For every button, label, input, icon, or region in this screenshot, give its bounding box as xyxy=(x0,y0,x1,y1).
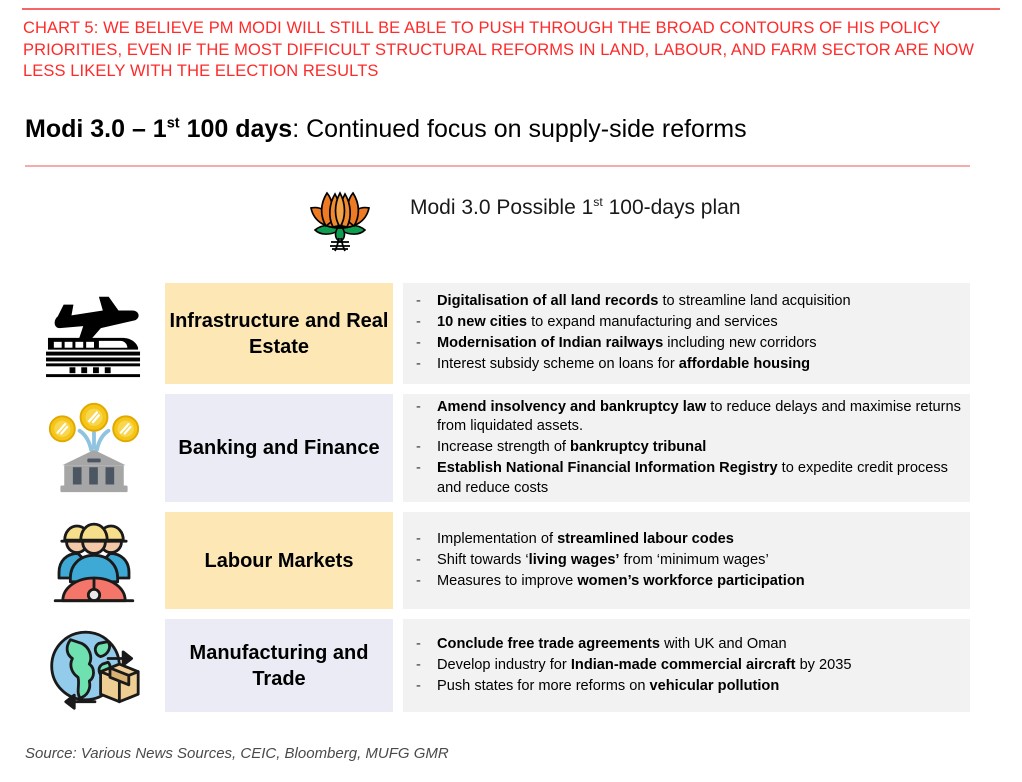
plan-rows: Infrastructure and Real Estate - Digital… xyxy=(0,283,1022,722)
bullet-panel-manufacturing: - Conclude free trade agreements with UK… xyxy=(403,619,970,712)
bullet-item: - Implementation of streamlined labour c… xyxy=(403,530,970,550)
bullet-item: - Measures to improve women’s workforce … xyxy=(403,572,970,592)
bullet-text: Amend insolvency and bankruptcy law to r… xyxy=(437,398,962,437)
page-title: Modi 3.0 – 1st 100 days: Continued focus… xyxy=(25,115,747,144)
bullet-text: Develop industry for Indian-made commerc… xyxy=(437,656,962,676)
bullet-item: - Modernisation of Indian railways inclu… xyxy=(403,334,970,354)
page-title-superscript: st xyxy=(167,116,180,132)
bullet-item: - Conclude free trade agreements with UK… xyxy=(403,635,970,655)
category-label-manufacturing: Manufacturing and Trade xyxy=(165,619,393,712)
plan-header: Modi 3.0 Possible 1st 100-days plan xyxy=(300,180,920,252)
category-label-infrastructure: Infrastructure and Real Estate xyxy=(165,283,393,384)
bullet-text: Measures to improve women’s workforce pa… xyxy=(437,572,962,592)
bullet-text: Digitalisation of all land records to st… xyxy=(437,292,962,312)
bullet-item: - Digitalisation of all land records to … xyxy=(403,292,970,312)
plan-row: Manufacturing and Trade - Conclude free … xyxy=(0,619,1022,712)
bullet-item: - Push states for more reforms on vehicu… xyxy=(403,677,970,697)
bullet-marker: - xyxy=(403,551,437,571)
category-label-text: Banking and Finance xyxy=(178,435,379,461)
page-title-regular: : Continued focus on supply-side reforms xyxy=(292,115,746,143)
bullet-text: Establish National Financial Information… xyxy=(437,459,962,498)
bullet-marker: - xyxy=(403,635,437,655)
page-title-bold-1: Modi 3.0 – 1 xyxy=(25,115,167,143)
plan-subtitle-part-2: 100-days plan xyxy=(603,196,741,219)
bullet-text: 10 new cities to expand manufacturing an… xyxy=(437,313,962,333)
plan-subtitle-superscript: st xyxy=(593,195,602,209)
bullet-text: Implementation of streamlined labour cod… xyxy=(437,530,962,550)
bullet-item: - Interest subsidy scheme on loans for a… xyxy=(403,355,970,375)
bullet-marker: - xyxy=(403,313,437,333)
bullet-marker: - xyxy=(403,677,437,697)
bullet-item: - Increase strength of bankruptcy tribun… xyxy=(403,438,970,458)
bullet-panel-infrastructure: - Digitalisation of all land records to … xyxy=(403,283,970,384)
plan-row: Infrastructure and Real Estate - Digital… xyxy=(0,283,1022,384)
workers-hardhat-icon xyxy=(32,512,156,609)
plan-row: Banking and Finance - Amend insolvency a… xyxy=(0,394,1022,502)
bullet-panel-banking: - Amend insolvency and bankruptcy law to… xyxy=(403,394,970,502)
plan-subtitle-part-1: Modi 3.0 Possible 1 xyxy=(410,196,593,219)
bullet-text: Conclude free trade agreements with UK a… xyxy=(437,635,962,655)
bullet-item: - Shift towards ‘living wages’ from ‘min… xyxy=(403,551,970,571)
bullet-marker: - xyxy=(403,334,437,354)
bullet-text: Shift towards ‘living wages’ from ‘minim… xyxy=(437,551,962,571)
top-divider-rule xyxy=(22,8,1000,10)
plan-row: Labour Markets - Implementation of strea… xyxy=(0,512,1022,609)
bullet-item: - Amend insolvency and bankruptcy law to… xyxy=(403,398,970,437)
bullet-marker: - xyxy=(403,459,437,498)
bullet-text: Modernisation of Indian railways includi… xyxy=(437,334,962,354)
bullet-marker: - xyxy=(403,355,437,375)
bullet-text: Interest subsidy scheme on loans for aff… xyxy=(437,355,962,375)
bullet-marker: - xyxy=(403,398,437,437)
bullet-item: - 10 new cities to expand manufacturing … xyxy=(403,313,970,333)
bank-coins-icon xyxy=(32,394,156,502)
bjp-lotus-logo xyxy=(300,180,380,252)
category-label-text: Labour Markets xyxy=(205,548,354,574)
plan-subtitle: Modi 3.0 Possible 1st 100-days plan xyxy=(410,196,741,220)
title-divider-rule xyxy=(25,165,970,167)
category-label-text: Manufacturing and Trade xyxy=(165,640,393,692)
category-label-labour: Labour Markets xyxy=(165,512,393,609)
globe-shipping-box-icon xyxy=(32,619,156,712)
bullet-text: Increase strength of bankruptcy tribunal xyxy=(437,438,962,458)
bullet-panel-labour: - Implementation of streamlined labour c… xyxy=(403,512,970,609)
bullet-marker: - xyxy=(403,292,437,312)
category-label-text: Infrastructure and Real Estate xyxy=(165,308,393,360)
bullet-text: Push states for more reforms on vehicula… xyxy=(437,677,962,697)
category-label-banking: Banking and Finance xyxy=(165,394,393,502)
plane-train-icon xyxy=(32,283,156,384)
bullet-marker: - xyxy=(403,656,437,676)
bullet-item: - Develop industry for Indian-made comme… xyxy=(403,656,970,676)
chart-headline: CHART 5: WE BELIEVE PM MODI WILL STILL B… xyxy=(23,18,998,83)
page-title-bold-2: 100 days xyxy=(180,115,293,143)
bullet-marker: - xyxy=(403,572,437,592)
bullet-marker: - xyxy=(403,438,437,458)
bullet-item: - Establish National Financial Informati… xyxy=(403,459,970,498)
bullet-marker: - xyxy=(403,530,437,550)
source-note: Source: Various News Sources, CEIC, Bloo… xyxy=(25,745,449,762)
